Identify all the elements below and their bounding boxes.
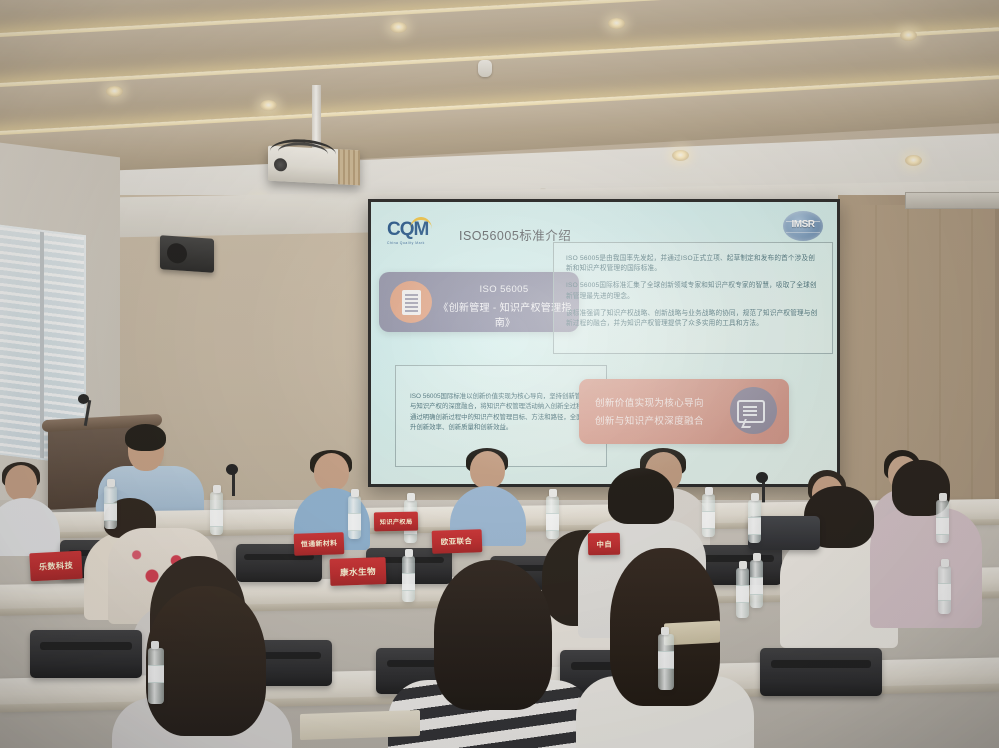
projector-lens-icon xyxy=(274,158,287,172)
cqm-logo: CQM China Quality Mark xyxy=(387,220,439,250)
projection-screen: CQM China Quality Mark ISO56005标准介绍 IMSR… xyxy=(368,199,840,487)
table-microphone-head xyxy=(756,472,768,483)
table-namecard-label: 恒通新材料 xyxy=(301,539,338,550)
projector-vent xyxy=(338,149,360,185)
slide: CQM China Quality Mark ISO56005标准介绍 IMSR… xyxy=(371,202,837,484)
water-bottle xyxy=(210,492,223,535)
ceiling-downlight xyxy=(608,18,625,29)
pink-card-line1: 创新价值实现为核心导向 xyxy=(595,395,704,413)
water-bottle xyxy=(658,634,674,690)
ceiling-downlight xyxy=(390,22,407,33)
paragraph: ISO 56005是由我国率先发起，并通过ISO正式立项、起草制定和发布的首个涉… xyxy=(554,243,832,274)
water-bottle xyxy=(148,648,164,704)
water-bottle xyxy=(936,500,949,543)
slide-pink-card: 创新价值实现为核心导向 创新与知识产权深度融合 xyxy=(579,379,789,444)
slide-text-block-top-right: ISO 56005是由我国率先发起，并通过ISO正式立项、起草制定和发布的首个涉… xyxy=(553,242,833,354)
ceiling-downlight xyxy=(900,30,917,41)
chair xyxy=(760,648,882,696)
projector xyxy=(268,146,360,186)
table-namecard-label: 中自 xyxy=(596,539,612,550)
table-microphone-head xyxy=(226,464,238,475)
ceiling-downlight xyxy=(260,100,277,111)
table-namecard: 欧亚联合 xyxy=(432,529,483,554)
ceiling-downlight xyxy=(106,86,123,97)
water-bottle xyxy=(750,560,763,608)
purple-card-line1: ISO 56005 xyxy=(437,284,571,295)
table-namecard-label: 康水生物 xyxy=(340,565,377,579)
water-bottle xyxy=(702,494,715,537)
table-namecard-label: 欧亚联合 xyxy=(441,536,473,548)
paragraph: ISO 56005国际标准以创新价值实现为核心导向，坚持创新管理与知识产权的深度… xyxy=(396,366,606,433)
table-namecard-label: 乐数科技 xyxy=(39,559,74,572)
wall-speaker xyxy=(160,235,214,273)
table-namecard: 康水生物 xyxy=(330,557,387,586)
paragraph: ISO 56005国际标准汇集了全球创新领域专家和知识产权专家的智慧，吸取了全球… xyxy=(554,281,832,301)
smoke-detector-icon xyxy=(478,60,492,77)
document-icon xyxy=(402,290,421,315)
slide-purple-card: ISO 56005 《创新管理 - 知识产权管理指南》 xyxy=(379,272,579,332)
table-namecard: 恒通新材料 xyxy=(294,532,345,556)
notebook xyxy=(300,710,420,740)
chair xyxy=(30,630,142,678)
table-namecard: 乐数科技 xyxy=(29,551,82,582)
water-bottle xyxy=(748,500,761,543)
cqm-logo-subtitle: China Quality Mark xyxy=(387,242,439,245)
pink-card-line2: 创新与知识产权深度融合 xyxy=(595,413,704,431)
pink-card-lines: 创新价值实现为核心导向 创新与知识产权深度融合 xyxy=(595,395,704,430)
water-bottle xyxy=(546,496,559,539)
air-vent xyxy=(905,192,999,209)
water-bottle xyxy=(104,486,117,529)
speech-bubble-icon xyxy=(737,400,765,423)
presenter-hair xyxy=(125,424,166,451)
water-bottle xyxy=(736,568,749,618)
table-namecard: 知识产权局 xyxy=(374,512,418,532)
water-bottle xyxy=(402,556,415,602)
imsr-logo-text: IMSR xyxy=(783,220,823,230)
imsr-logo: IMSR xyxy=(783,211,823,241)
ceiling-downlight xyxy=(905,155,922,166)
microphone-icon xyxy=(78,394,89,404)
paragraph: 该标准强调了知识产权战略、创新战略与业务战略的协同，规范了知识产权管理与创新过程… xyxy=(554,309,832,329)
ceiling-downlight xyxy=(672,150,689,161)
table-namecard: 中自 xyxy=(588,533,620,556)
meeting-room-photo: CQM China Quality Mark ISO56005标准介绍 IMSR… xyxy=(0,0,999,748)
table-namecard-label: 知识产权局 xyxy=(380,517,413,526)
water-bottle xyxy=(348,496,361,539)
cqm-logo-arc-icon xyxy=(410,217,432,229)
water-bottle xyxy=(938,566,951,614)
